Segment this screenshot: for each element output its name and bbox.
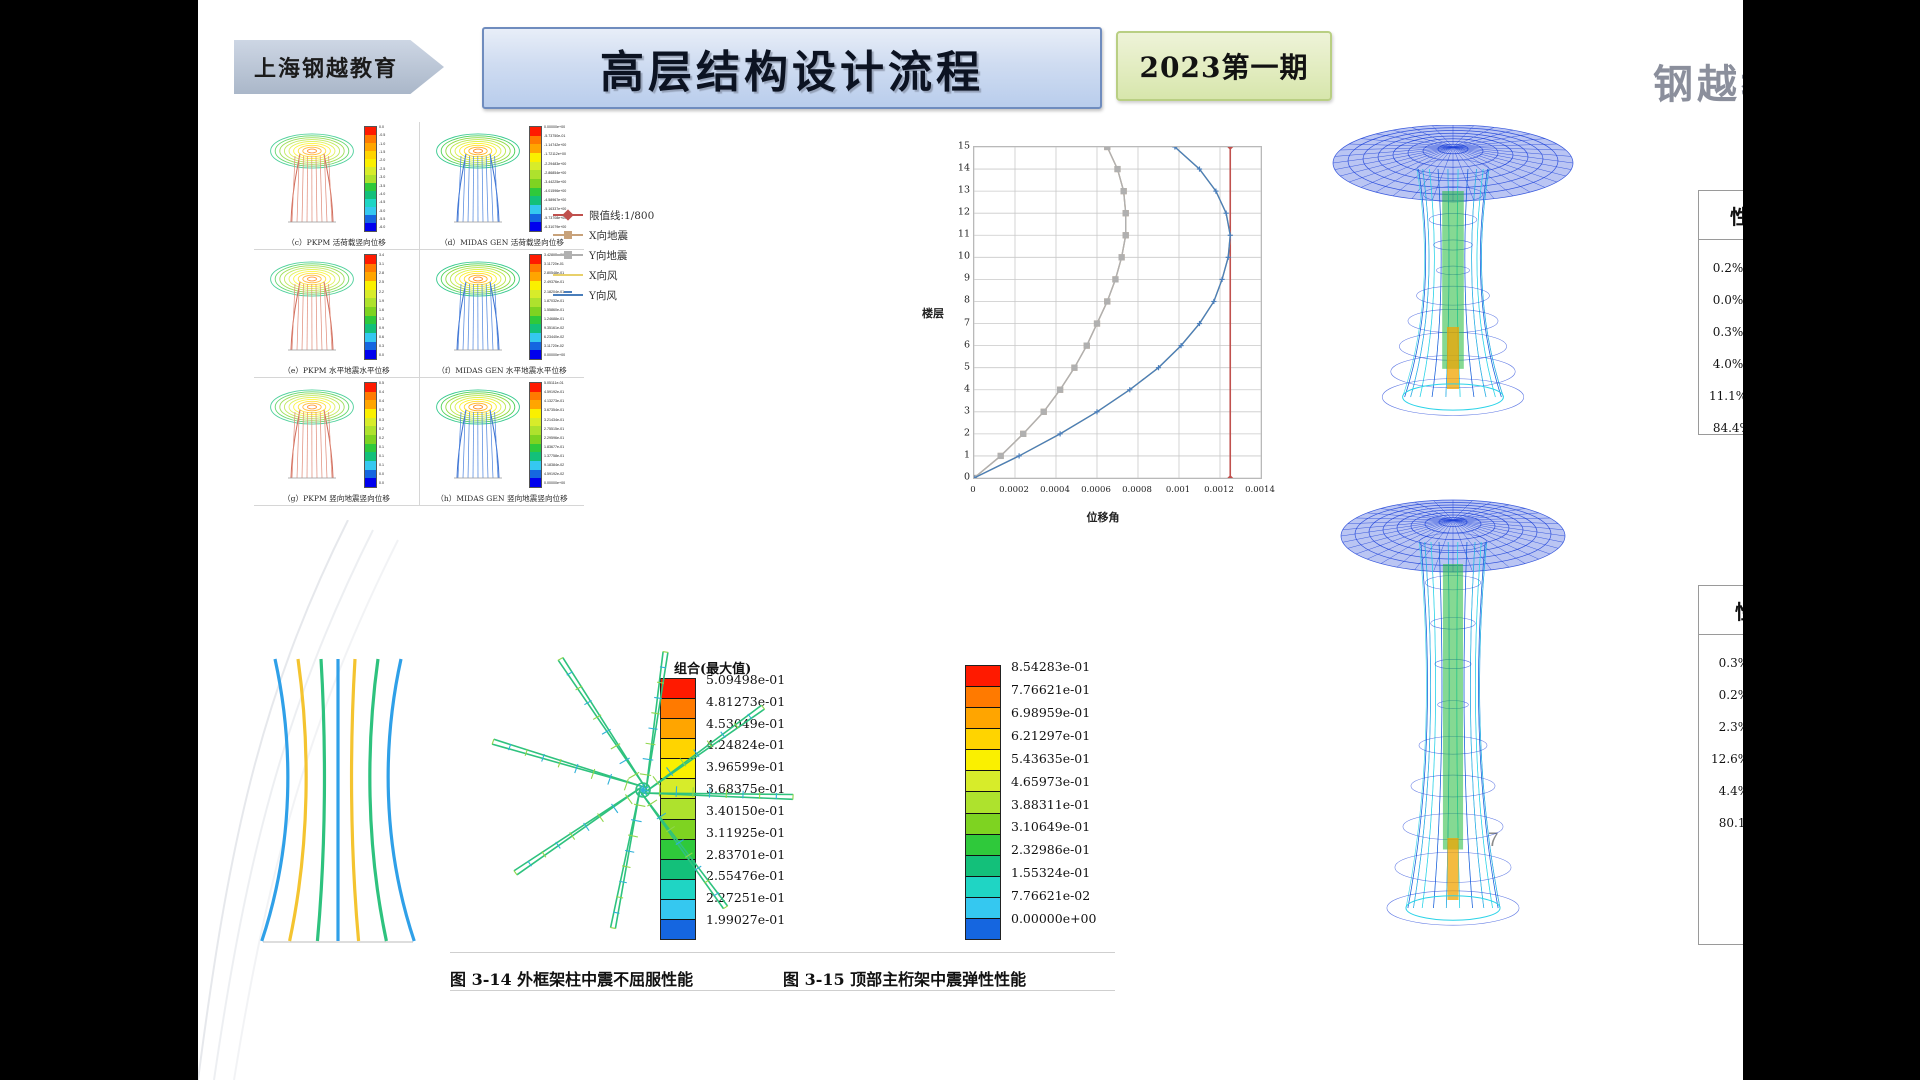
- fe-scale-value: -0.5: [379, 134, 416, 138]
- fe-color-swatch: [365, 392, 376, 401]
- chart-y-tick: 12: [938, 207, 974, 218]
- chart-legend-label: X向风: [589, 268, 617, 283]
- figure-caption-3-14: 图 3-14 外框架柱中震不屈服性能: [450, 966, 693, 990]
- fe-color-swatch: [365, 159, 376, 167]
- letterbox-right: [1743, 0, 1920, 1080]
- fe-contour-plot: [258, 380, 366, 484]
- scale-value: 7.76621e-02: [1011, 885, 1096, 908]
- fe-color-swatch: [530, 144, 541, 153]
- perf-table-body: 0.3%严重损坏0.2%重度损坏2.3%中度损坏12.6%轻度损坏4.4%轻微损…: [1699, 635, 1743, 851]
- fe-color-scale: 5.05111e-014.59192e-014.13273e-013.67354…: [529, 382, 581, 486]
- fe-scale-value: 3.21434e-01: [544, 419, 581, 423]
- perf-table-row: 84.4%无损坏: [1709, 412, 1743, 444]
- fe-scale-value: 2.8: [379, 272, 416, 276]
- fe-scale-value: 0.1: [379, 446, 416, 450]
- fe-color-swatch: [530, 333, 541, 342]
- watermark: 钢越教育: [1653, 52, 1743, 110]
- fe-color-swatch: [530, 400, 541, 409]
- page-title: 高层结构设计流程: [600, 36, 984, 100]
- fe-scale-value: 6.23440e-02: [544, 336, 581, 340]
- fe-contour-plot: [424, 252, 532, 356]
- fe-figure-cell: 0.50.40.40.30.30.20.20.10.10.10.00.0（g）P…: [254, 378, 419, 506]
- fe-color-swatch: [365, 333, 376, 342]
- roof-truss-model: [478, 640, 808, 940]
- chart-x-tick: 0.0002: [999, 481, 1029, 495]
- fe-scale-value: 2.29596e-01: [544, 437, 581, 441]
- chart-y-tick: 8: [938, 295, 974, 306]
- chart-y-tick: 14: [938, 163, 974, 174]
- fe-color-swatch: [530, 127, 541, 136]
- fe-scale-value: -5.0: [379, 210, 416, 214]
- scale-color-swatch: [966, 898, 1000, 919]
- chart-y-tick: 7: [938, 317, 974, 328]
- scale-value: 8.54283e-01: [1011, 656, 1096, 679]
- fe-color-swatch: [365, 281, 376, 290]
- chart-legend-swatch: [553, 234, 583, 236]
- chart-legend-item[interactable]: X向风: [553, 265, 673, 285]
- perf-table-body: 0.2%严重损坏0.0%重度损坏0.3%中度损坏4.0%轻度损坏11.1%轻微损…: [1699, 240, 1743, 456]
- fe-scale-value: 0.4: [379, 391, 416, 395]
- color-scale-3-15-bar: [965, 665, 1001, 940]
- fe-color-swatch: [530, 418, 541, 427]
- brand-tag-label: 上海钢越教育: [234, 40, 444, 94]
- fe-color-swatch: [530, 470, 541, 479]
- fe-scale-value: 1.24688e-01: [544, 318, 581, 322]
- fe-color-swatch: [365, 207, 376, 215]
- fe-figure-cell: 5.05111e-014.59192e-014.13273e-013.67354…: [419, 378, 584, 506]
- tower-model-lower: [1303, 490, 1603, 940]
- fe-scale-value: 4.59192e-01: [544, 391, 581, 395]
- fe-color-swatch: [365, 342, 376, 351]
- chart-x-axis-label: 位移角: [938, 509, 1268, 525]
- fe-color-swatch: [530, 281, 541, 290]
- fe-scale-value: 3.67354e-01: [544, 409, 581, 413]
- tower-model-upper: [1303, 125, 1603, 425]
- fe-scale-value: 4.13273e-01: [544, 400, 581, 404]
- fe-scale-value: -4.01596e+00: [544, 190, 581, 194]
- perf-percentage: 0.0%: [1709, 293, 1743, 307]
- fe-color-swatch: [530, 478, 541, 487]
- fe-color-swatch: [530, 426, 541, 435]
- perf-percentage: 12.6%: [1709, 752, 1743, 766]
- fe-color-swatch: [530, 188, 541, 197]
- fe-color-swatch: [530, 162, 541, 171]
- fe-color-swatch: [365, 383, 376, 392]
- scale-color-swatch: [966, 708, 1000, 729]
- fe-figure-grid: 0.0-0.5-1.0-1.5-2.0-2.5-3.0-3.5-4.0-4.5-…: [254, 122, 584, 507]
- fe-color-swatch: [530, 196, 541, 205]
- perf-table-row: 0.0%重度损坏: [1709, 284, 1743, 316]
- scale-value: 3.10649e-01: [1011, 816, 1096, 839]
- fe-color-swatch: [365, 183, 376, 191]
- fe-scale-value: 0.3: [379, 419, 416, 423]
- chart-legend-swatch: [553, 214, 583, 216]
- fe-scale-value: 0.1: [379, 455, 416, 459]
- fe-color-swatch: [365, 290, 376, 299]
- fe-color-bar: [364, 126, 377, 232]
- perf-percentage: 0.2%: [1709, 261, 1743, 275]
- fe-color-swatch: [530, 342, 541, 351]
- perf-table-upper: 性能水平0.2%严重损坏0.0%重度损坏0.3%中度损坏4.0%轻度损坏11.1…: [1698, 190, 1743, 435]
- frame-column-model: [253, 655, 423, 945]
- chart-legend-label: X向地震: [589, 228, 628, 243]
- fe-color-swatch: [365, 470, 376, 479]
- fe-color-swatch: [530, 290, 541, 299]
- fe-color-swatch: [365, 461, 376, 470]
- fe-scale-value: -4.58967e+00: [544, 199, 581, 203]
- chart-legend-item[interactable]: X向地震: [553, 225, 673, 245]
- fe-scale-value: 0.0: [379, 126, 416, 130]
- fe-scale-value: 9.35161e-02: [544, 327, 581, 331]
- story-drift-chart: 楼层 位移角 012345678910111213141500.00020.00…: [938, 140, 1268, 525]
- scale-value: 1.55324e-01: [1011, 862, 1096, 885]
- fe-scale-value: -3.0: [379, 176, 416, 180]
- scale-value: 6.98959e-01: [1011, 702, 1096, 725]
- chart-legend-item[interactable]: Y向风: [553, 285, 673, 305]
- fe-color-swatch: [365, 324, 376, 333]
- fe-scale-value: 0.2: [379, 428, 416, 432]
- fe-scale-value: -1.0: [379, 143, 416, 147]
- chart-x-tick: 0.0012: [1204, 481, 1234, 495]
- bottom-divider: [450, 952, 1115, 953]
- fe-color-swatch: [365, 264, 376, 273]
- fe-contour-plot: [258, 252, 366, 356]
- fe-scale-value: 5.05111e-01: [544, 382, 581, 386]
- scale-value: 2.32986e-01: [1011, 839, 1096, 862]
- fe-scale-value: 0.0: [379, 354, 416, 358]
- fe-color-swatch: [365, 135, 376, 143]
- scale-value: 3.88311e-01: [1011, 794, 1096, 817]
- fe-color-scale-labels: 0.0-0.5-1.0-1.5-2.0-2.5-3.0-3.5-4.0-4.5-…: [377, 126, 416, 230]
- fe-color-swatch: [365, 350, 376, 359]
- perf-table-row: 0.3%中度损坏: [1709, 316, 1743, 348]
- chart-x-tick: 0.001: [1166, 481, 1190, 495]
- chart-x-tick: 0.0006: [1081, 481, 1111, 495]
- fe-color-scale-labels: 3.43.12.82.52.21.91.61.30.90.60.30.0: [377, 254, 416, 358]
- fe-color-swatch: [365, 409, 376, 418]
- fe-color-swatch: [530, 222, 541, 231]
- fe-scale-value: -2.86854e+00: [544, 172, 581, 176]
- fe-color-swatch: [365, 452, 376, 461]
- fe-scale-value: -2.29483e+00: [544, 163, 581, 167]
- fe-color-swatch: [365, 151, 376, 159]
- perf-percentage: 11.1%: [1709, 389, 1743, 403]
- fe-color-swatch: [365, 191, 376, 199]
- scale-color-swatch: [966, 687, 1000, 708]
- perf-table-title: 性能水平: [1699, 586, 1743, 635]
- fe-color-bar: [529, 254, 542, 360]
- perf-percentage: 80.1%: [1709, 816, 1743, 830]
- chart-legend-swatch: [553, 294, 583, 296]
- fe-scale-value: 2.2: [379, 291, 416, 295]
- color-scale-3-15-values: 8.54283e-017.76621e-016.98959e-016.21297…: [1011, 656, 1096, 931]
- fe-color-swatch: [530, 409, 541, 418]
- fe-color-scale-labels: 5.05111e-014.59192e-014.13273e-013.67354…: [542, 382, 581, 486]
- fe-color-swatch: [365, 435, 376, 444]
- chart-y-tick: 4: [938, 383, 974, 394]
- scale-color-swatch: [966, 835, 1000, 856]
- chart-x-tick: 0.0014: [1245, 481, 1275, 495]
- fe-color-swatch: [365, 143, 376, 151]
- fe-color-swatch: [530, 255, 541, 264]
- fe-color-scale-labels: 0.50.40.40.30.30.20.20.10.10.10.00.0: [377, 382, 416, 486]
- fe-color-swatch: [365, 316, 376, 325]
- fe-color-swatch: [530, 461, 541, 470]
- fe-scale-value: 0.0: [379, 482, 416, 486]
- fe-contour-plot: [424, 124, 532, 228]
- fe-contour-plot: [258, 124, 366, 228]
- fe-scale-value: 2.5: [379, 281, 416, 285]
- scale-value: 4.65973e-01: [1011, 771, 1096, 794]
- perf-table-lower: 性能水平0.3%严重损坏0.2%重度损坏2.3%中度损坏12.6%轻度损坏4.4…: [1698, 585, 1743, 945]
- fe-contour-plot: [424, 380, 532, 484]
- fe-scale-value: 3.4: [379, 254, 416, 258]
- fe-color-swatch: [365, 418, 376, 427]
- chart-legend-swatch: [553, 254, 583, 256]
- fe-color-swatch: [530, 452, 541, 461]
- chart-legend-item[interactable]: 限值线:1/800: [553, 205, 673, 225]
- fe-color-swatch: [365, 298, 376, 307]
- fe-color-swatch: [530, 205, 541, 214]
- chart-legend: 限值线:1/800X向地震Y向地震X向风Y向风: [553, 205, 673, 305]
- fe-scale-value: 1.3: [379, 318, 416, 322]
- fe-color-swatch: [530, 435, 541, 444]
- chart-legend-label: Y向地震: [589, 248, 627, 263]
- fe-scale-value: -1.72112e+00: [544, 153, 581, 157]
- scale-value: 5.43635e-01: [1011, 748, 1096, 771]
- fe-figure-caption: （c）PKPM 活荷载竖向位移: [254, 237, 419, 248]
- fe-scale-value: 1.9: [379, 300, 416, 304]
- slide-page: 上海钢越教育 高层结构设计流程 2023第一期 7 0.0-0.5-1.0-1.…: [198, 0, 1743, 1080]
- fe-color-scale: 0.50.40.40.30.30.20.20.10.10.10.00.0: [364, 382, 416, 486]
- scale-color-swatch: [966, 856, 1000, 877]
- perf-percentage: 4.4%: [1709, 784, 1743, 798]
- fe-color-swatch: [365, 478, 376, 487]
- fe-color-scale: 3.43.12.82.52.21.91.61.30.90.60.30.0: [364, 254, 416, 358]
- fe-scale-value: -4.0: [379, 193, 416, 197]
- fe-scale-value: 0.6: [379, 336, 416, 340]
- perf-percentage: 0.3%: [1709, 656, 1743, 670]
- fe-color-swatch: [365, 175, 376, 183]
- perf-table-row: 0.3%严重损坏: [1709, 647, 1743, 679]
- fe-scale-value: 0.4: [379, 400, 416, 404]
- fe-color-swatch: [530, 383, 541, 392]
- perf-table-title: 性能水平: [1699, 191, 1743, 240]
- fe-scale-value: 3.11720e-02: [544, 345, 581, 349]
- chart-legend-label: Y向风: [589, 288, 617, 303]
- fe-scale-value: -4.5: [379, 201, 416, 205]
- letterbox-left: [0, 0, 198, 1080]
- fe-color-swatch: [365, 272, 376, 281]
- chart-y-tick: 3: [938, 405, 974, 416]
- perf-table-row: 11.1%轻微损坏: [1709, 380, 1743, 412]
- perf-percentage: 4.0%: [1709, 357, 1743, 371]
- perf-table-row: 12.6%轻度损坏: [1709, 743, 1743, 775]
- fe-color-swatch: [365, 127, 376, 135]
- scale-color-swatch: [966, 750, 1000, 771]
- fe-figure-caption: （e）PKPM 水平地震水平位移: [254, 365, 419, 376]
- fe-color-swatch: [365, 199, 376, 207]
- fe-color-swatch: [530, 307, 541, 316]
- fe-color-swatch: [530, 264, 541, 273]
- chart-x-tick: 0: [970, 481, 975, 495]
- chart-y-tick: 10: [938, 251, 974, 262]
- chart-y-tick: 5: [938, 361, 974, 372]
- scale-value: 6.21297e-01: [1011, 725, 1096, 748]
- fe-scale-value: -2.5: [379, 168, 416, 172]
- fe-scale-value: 4.59192e-02: [544, 473, 581, 477]
- fe-scale-value: 0.9: [379, 327, 416, 331]
- fe-color-swatch: [530, 272, 541, 281]
- fe-color-swatch: [530, 298, 541, 307]
- scale-value: 7.76621e-01: [1011, 679, 1096, 702]
- scale-value: 0.00000e+00: [1011, 908, 1096, 931]
- fe-color-swatch: [365, 215, 376, 223]
- chart-y-tick: 6: [938, 339, 974, 350]
- fe-scale-value: 0.2: [379, 437, 416, 441]
- fe-color-swatch: [530, 136, 541, 145]
- fe-color-swatch: [530, 350, 541, 359]
- perf-percentage: 0.3%: [1709, 325, 1743, 339]
- fe-scale-value: 9.18384e-02: [544, 464, 581, 468]
- fe-color-swatch: [530, 392, 541, 401]
- fe-color-swatch: [530, 170, 541, 179]
- fe-scale-value: 0.3: [379, 345, 416, 349]
- fe-scale-value: -1.5: [379, 151, 416, 155]
- scale-color-swatch: [966, 666, 1000, 687]
- fe-color-swatch: [365, 307, 376, 316]
- chart-y-tick: 1: [938, 449, 974, 460]
- fe-scale-value: -3.44225e+00: [544, 181, 581, 185]
- perf-percentage: 2.3%: [1709, 720, 1743, 734]
- fe-scale-value: -1.14742e+00: [544, 144, 581, 148]
- fe-scale-value: 0.0: [379, 473, 416, 477]
- fe-scale-value: 0.3: [379, 409, 416, 413]
- fe-scale-value: -3.5: [379, 185, 416, 189]
- perf-table-row: 0.2%重度损坏: [1709, 679, 1743, 711]
- scale-color-swatch: [966, 814, 1000, 835]
- fe-color-swatch: [365, 167, 376, 175]
- scale-color-swatch: [966, 877, 1000, 898]
- perf-percentage: 84.4%: [1709, 421, 1743, 435]
- fe-color-bar: [364, 382, 377, 488]
- chart-legend-item[interactable]: Y向地震: [553, 245, 673, 265]
- fe-color-swatch: [365, 400, 376, 409]
- fe-color-swatch: [365, 223, 376, 231]
- fe-color-bar: [364, 254, 377, 360]
- fe-color-bar: [529, 126, 542, 232]
- fe-scale-value: -5.5: [379, 218, 416, 222]
- figure-caption-3-15: 图 3-15 顶部主桁架中震弹性性能: [783, 966, 1026, 990]
- fe-color-scale: 0.0-0.5-1.0-1.5-2.0-2.5-3.0-3.5-4.0-4.5-…: [364, 126, 416, 230]
- perf-table-row: 80.1%无损坏: [1709, 807, 1743, 839]
- period-badge: 2023第一期: [1116, 31, 1332, 101]
- fe-figure-caption: （h）MIDAS GEN 竖向地震竖向位移: [420, 493, 584, 504]
- perf-percentage: 0.2%: [1709, 688, 1743, 702]
- scale-color-swatch: [966, 792, 1000, 813]
- brand-tag: 上海钢越教育: [234, 40, 444, 94]
- fe-scale-value: -6.0: [379, 226, 416, 230]
- chart-x-tick: 0.0004: [1040, 481, 1070, 495]
- chart-x-tick: 0.0008: [1122, 481, 1152, 495]
- chart-y-tick: 2: [938, 427, 974, 438]
- fe-figure-caption: （f）MIDAS GEN 水平地震水平位移: [420, 365, 584, 376]
- fe-color-swatch: [530, 214, 541, 223]
- fe-scale-value: 1.37758e-01: [544, 455, 581, 459]
- period-label: 2023第一期: [1140, 46, 1309, 86]
- chart-legend-label: 限值线:1/800: [589, 208, 654, 223]
- fe-scale-value: 0.00000e+00: [544, 354, 581, 358]
- fe-scale-value: 1.83677e-01: [544, 446, 581, 450]
- scale-color-swatch: [966, 729, 1000, 750]
- fe-scale-value: 3.1: [379, 263, 416, 267]
- fe-figure-caption: （g）PKPM 竖向地震竖向位移: [254, 493, 419, 504]
- chart-y-tick: 9: [938, 273, 974, 284]
- chart-y-tick: 13: [938, 185, 974, 196]
- page-title-box: 高层结构设计流程: [482, 27, 1102, 109]
- chart-y-tick: 11: [938, 229, 974, 240]
- fe-color-swatch: [365, 444, 376, 453]
- fe-color-swatch: [530, 153, 541, 162]
- fe-color-swatch: [530, 444, 541, 453]
- fe-scale-value: 1.6: [379, 309, 416, 313]
- fe-scale-value: 2.75515e-01: [544, 428, 581, 432]
- fe-color-swatch: [530, 316, 541, 325]
- perf-table-row: 2.3%中度损坏: [1709, 711, 1743, 743]
- perf-table-row: 4.4%轻微损坏: [1709, 775, 1743, 807]
- chart-plot-area: [973, 146, 1262, 479]
- fe-color-swatch: [365, 426, 376, 435]
- bottom-frame: [450, 990, 1115, 991]
- fe-figure-cell: 0.0-0.5-1.0-1.5-2.0-2.5-3.0-3.5-4.0-4.5-…: [254, 122, 419, 250]
- perf-table-row: 4.0%轻度损坏: [1709, 348, 1743, 380]
- fe-scale-value: -2.0: [379, 159, 416, 163]
- fe-color-bar: [529, 382, 542, 488]
- fe-scale-value: -5.73750e-01: [544, 135, 581, 139]
- fe-scale-value: 0.00000e+00: [544, 482, 581, 486]
- chart-y-tick: 15: [938, 141, 974, 152]
- chart-svg: [974, 147, 1261, 478]
- scale-color-swatch: [966, 919, 1000, 939]
- fe-color-swatch: [530, 324, 541, 333]
- fe-scale-value: 0.1: [379, 464, 416, 468]
- scale-color-swatch: [966, 771, 1000, 792]
- fe-scale-value: 1.55860e-01: [544, 309, 581, 313]
- perf-table-row: 0.2%严重损坏: [1709, 252, 1743, 284]
- fe-color-swatch: [530, 179, 541, 188]
- fe-scale-value: 0.00000e+00: [544, 126, 581, 130]
- chart-y-tick: 0: [938, 472, 974, 483]
- fe-color-swatch: [365, 255, 376, 264]
- chart-legend-swatch: [553, 274, 583, 276]
- fe-figure-cell: 3.43.12.82.52.21.91.61.30.90.60.30.0（e）P…: [254, 250, 419, 378]
- fe-scale-value: 0.5: [379, 382, 416, 386]
